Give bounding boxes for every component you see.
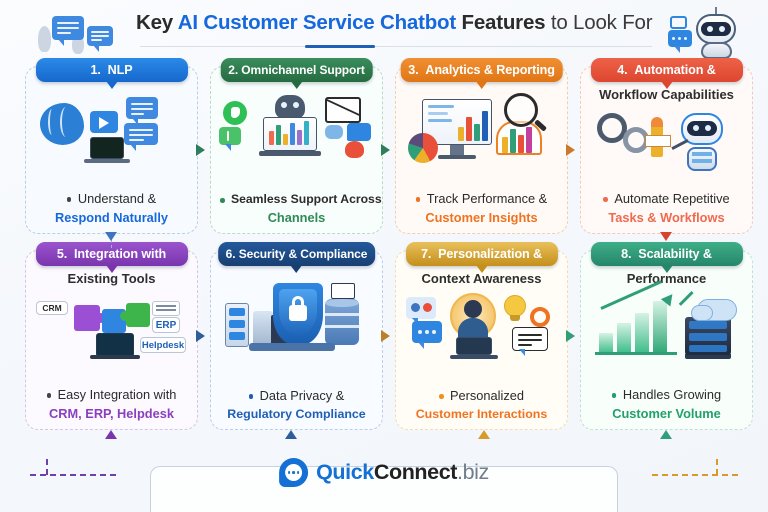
- card-number: 7.: [421, 247, 431, 261]
- card-number: 1.: [90, 63, 100, 77]
- title-segment-3: to Look For: [545, 11, 652, 34]
- card-number: 4.: [617, 63, 627, 77]
- card-header-badge: 8. Scalability &: [591, 242, 743, 266]
- brand-logo[interactable]: QuickConnect.biz: [279, 458, 489, 487]
- persona-chat-icon: [404, 293, 561, 359]
- card-number: 3.: [408, 63, 418, 77]
- card-subtitle: Workflow Capabilities: [581, 87, 752, 102]
- connector-arrow-up-1: [285, 430, 297, 439]
- feature-card-nlp[interactable]: 1. NLP Understand & Respond Na: [25, 66, 198, 234]
- footer-dash-right-2: [716, 459, 722, 475]
- card-subtitle: Context Awareness: [396, 271, 567, 286]
- chatbot-robot-icon: [660, 4, 764, 58]
- card-title: Security & Compliance: [239, 247, 368, 261]
- connector-arrow-up-3: [660, 430, 672, 439]
- bullet-primary: Personalized: [439, 388, 524, 403]
- card-number: 5.: [57, 247, 67, 261]
- feature-card-analytics-reporting[interactable]: 3. Analytics & Reporting Track Performan…: [395, 66, 568, 234]
- bullet-secondary: Customer Insights: [405, 210, 558, 225]
- card-bullets: Easy Integration with CRM, ERP, Helpdesk: [35, 386, 188, 421]
- footer-dash-left: [30, 474, 116, 476]
- connector-arrow-up-2: [478, 430, 490, 439]
- card-bullets: Handles Growing Customer Volume: [590, 386, 743, 421]
- bullet-primary: Easy Integration with: [47, 387, 177, 402]
- bullet-secondary: Tasks & Workflows: [590, 210, 743, 225]
- tag-erp: ERP: [152, 317, 180, 333]
- page-header: Key AI Customer Service Chatbot Features…: [0, 0, 768, 60]
- card-bullets: Personalized Customer Interactions: [405, 387, 558, 421]
- card-title: NLP: [108, 63, 133, 77]
- bullet-secondary: Respond Naturally: [35, 210, 188, 225]
- footer-dash-left-2: [46, 459, 52, 475]
- title-segment-2: Features: [456, 11, 545, 34]
- dashboard-charts-icon: [404, 93, 561, 165]
- bullet-secondary: CRM, ERP, Helpdesk: [35, 406, 188, 421]
- bullet-secondary: Customer Volume: [590, 406, 743, 421]
- tag-helpdesk: Helpdesk: [140, 337, 186, 353]
- card-number: 6.: [226, 247, 236, 261]
- bullet-primary: Seamless Support Across: [220, 192, 382, 206]
- card-bullets: Understand & Respond Naturally: [35, 190, 188, 225]
- feature-card-automation-workflow[interactable]: 4. Automation & Workflow Capabilities Au…: [580, 66, 753, 234]
- brand-tld: .biz: [457, 460, 489, 484]
- puzzle-pieces-icon: CRM ERP Helpdesk: [34, 293, 191, 359]
- card-header-badge: 3. Analytics & Reporting: [400, 58, 563, 82]
- connector-arrow-down-2: [660, 232, 672, 241]
- page-footer: QuickConnect.biz: [0, 446, 768, 512]
- card-title: Automation &: [634, 63, 715, 77]
- feature-card-personalization-context[interactable]: 7. Personalization & Context Awareness: [395, 250, 568, 430]
- connector-arrow-right-1: [196, 144, 205, 156]
- feature-card-scalability-performance[interactable]: 8. Scalability & Performance Handles Gro…: [580, 250, 753, 430]
- connector-arrow-right-5: [381, 330, 390, 342]
- feature-card-omnichannel-support[interactable]: 2. Omnichannel Support: [210, 66, 383, 234]
- card-subtitle: Performance: [581, 271, 752, 286]
- card-header-badge: 6. Security & Compliance: [218, 242, 376, 266]
- growth-chart-cloud-icon: [589, 293, 746, 359]
- card-header-badge: 7. Personalization &: [406, 242, 558, 266]
- card-bullets: Automate Repetitive Tasks & Workflows: [590, 190, 743, 225]
- card-number: 8.: [621, 247, 631, 261]
- chat-bubbles-people-icon: [34, 8, 134, 56]
- connector-arrow-right-4: [196, 330, 205, 342]
- bullet-primary: Track Performance &: [416, 191, 547, 206]
- card-subtitle: Existing Tools: [26, 271, 197, 286]
- card-header-badge: 1. NLP: [36, 58, 188, 82]
- connector-arrow-right-2: [381, 144, 390, 156]
- brand-name: QuickConnect.biz: [316, 460, 489, 485]
- bullet-primary: Understand &: [67, 191, 156, 206]
- title-divider-accent: [305, 45, 375, 48]
- bullet-primary: Handles Growing: [612, 387, 721, 402]
- tag-crm: CRM: [36, 301, 68, 315]
- card-bullets: Seamless Support Across Channels: [220, 190, 373, 225]
- brand-part-connect: Connect: [374, 460, 457, 484]
- card-number: 2.: [228, 63, 238, 77]
- card-bullets: Data Privacy & Regulatory Compliance: [220, 387, 373, 421]
- brand-part-quick: Quick: [316, 460, 374, 484]
- card-title: Personalization &: [438, 247, 542, 261]
- chat-bubble-logo-icon: [279, 458, 308, 487]
- omnichannel-icons: [219, 93, 376, 165]
- connector-arrow-right-3: [566, 144, 575, 156]
- bullet-primary: Data Privacy &: [249, 388, 345, 403]
- feature-card-integration-existing-tools[interactable]: 5. Integration with Existing Tools CRM E…: [25, 250, 198, 430]
- bullet-primary: Automate Repetitive: [603, 191, 729, 206]
- card-title: Analytics & Reporting: [425, 63, 554, 77]
- card-title: Scalability &: [638, 247, 712, 261]
- shield-lock-servers-icon: [219, 281, 376, 357]
- connector-arrow-down-1: [105, 232, 117, 241]
- connector-arrow-up-4: [105, 430, 117, 439]
- page-title: Key AI Customer Service Chatbot Features…: [136, 11, 672, 35]
- feature-card-security-compliance[interactable]: 6. Security & Compliance Data Privacy & …: [210, 250, 383, 430]
- bullet-secondary: Customer Interactions: [405, 407, 558, 421]
- card-title: Integration with: [74, 247, 166, 261]
- card-title: Omnichannel Support: [241, 63, 364, 77]
- card-header-badge: 4. Automation &: [591, 58, 743, 82]
- card-header-badge: 2. Omnichannel Support: [220, 58, 373, 82]
- bullet-secondary: Channels: [220, 210, 373, 225]
- title-accent: AI Customer Service Chatbot: [178, 11, 456, 34]
- title-segment-1: Key: [136, 11, 178, 34]
- feature-card-grid: 1. NLP Understand & Respond Na: [0, 60, 768, 442]
- title-divider: [140, 46, 652, 47]
- card-bullets: Track Performance & Customer Insights: [405, 190, 558, 225]
- footer-dash-right: [652, 474, 738, 476]
- connector-arrow-right-6: [566, 330, 575, 342]
- gears-robot-icon: [589, 107, 746, 179]
- brain-chat-laptop-icon: [34, 93, 191, 165]
- bullet-secondary: Regulatory Compliance: [220, 407, 373, 421]
